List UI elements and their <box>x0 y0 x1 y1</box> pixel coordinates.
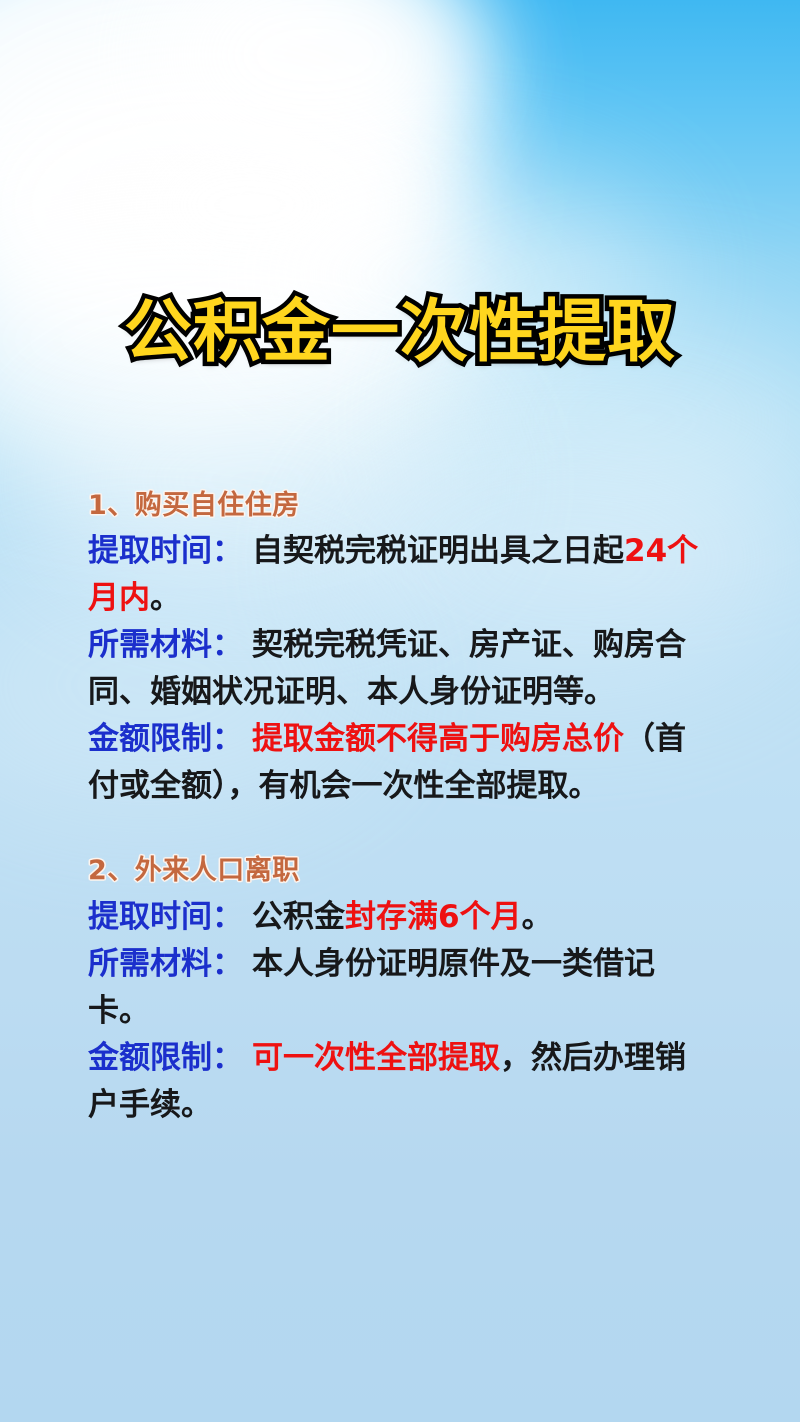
info-row-label: 金额限制： <box>88 721 243 757</box>
info-row-text: 自契税完税证明出具之日起 <box>252 533 624 569</box>
info-row-label: 所需材料： <box>88 627 243 663</box>
info-row-label: 提取时间： <box>88 533 243 569</box>
poster-canvas: 公积金一次性提取 1、购买自住住房提取时间：自契税完税证明出具之日起24个月内。… <box>0 0 800 1422</box>
info-row: 金额限制：提取金额不得高于购房总价（首付或全额），有机会一次性全部提取。 <box>88 716 704 809</box>
info-row: 金额限制：可一次性全部提取，然后办理销户手续。 <box>88 1035 704 1128</box>
cloud-shape <box>120 120 380 290</box>
info-row-text: 。 <box>522 899 553 935</box>
content-section: 1、购买自住住房提取时间：自契税完税证明出具之日起24个月内。所需材料：契税完税… <box>88 488 704 809</box>
info-row-label: 所需材料： <box>88 946 243 982</box>
info-row-label: 金额限制： <box>88 1040 243 1076</box>
info-row: 提取时间：公积金封存满6个月。 <box>88 894 704 941</box>
emphasis-text: 可一次性全部提取 <box>252 1040 500 1076</box>
info-row-text: 公积金 <box>252 899 345 935</box>
page-title: 公积金一次性提取 <box>124 296 676 371</box>
emphasis-text: 封存满6个月 <box>345 899 522 935</box>
cloud-shape <box>150 0 480 170</box>
poster-title-container: 公积金一次性提取 <box>0 296 800 371</box>
section-heading: 2、外来人口离职 <box>88 853 704 889</box>
info-row: 所需材料：契税完税凭证、房产证、购房合同、婚姻状况证明、本人身份证明等。 <box>88 622 704 715</box>
info-row-text: 。 <box>150 580 181 616</box>
info-row: 所需材料：本人身份证明原件及一类借记卡。 <box>88 941 704 1034</box>
section-heading: 1、购买自住住房 <box>88 488 704 524</box>
poster-body: 1、购买自住住房提取时间：自契税完税证明出具之日起24个月内。所需材料：契税完税… <box>88 488 704 1129</box>
cloud-shape <box>0 0 470 310</box>
emphasis-text: 提取金额不得高于购房总价 <box>252 721 624 757</box>
info-row: 提取时间：自契税完税证明出具之日起24个月内。 <box>88 528 704 621</box>
info-row-label: 提取时间： <box>88 899 243 935</box>
content-section: 2、外来人口离职提取时间：公积金封存满6个月。所需材料：本人身份证明原件及一类借… <box>88 853 704 1128</box>
